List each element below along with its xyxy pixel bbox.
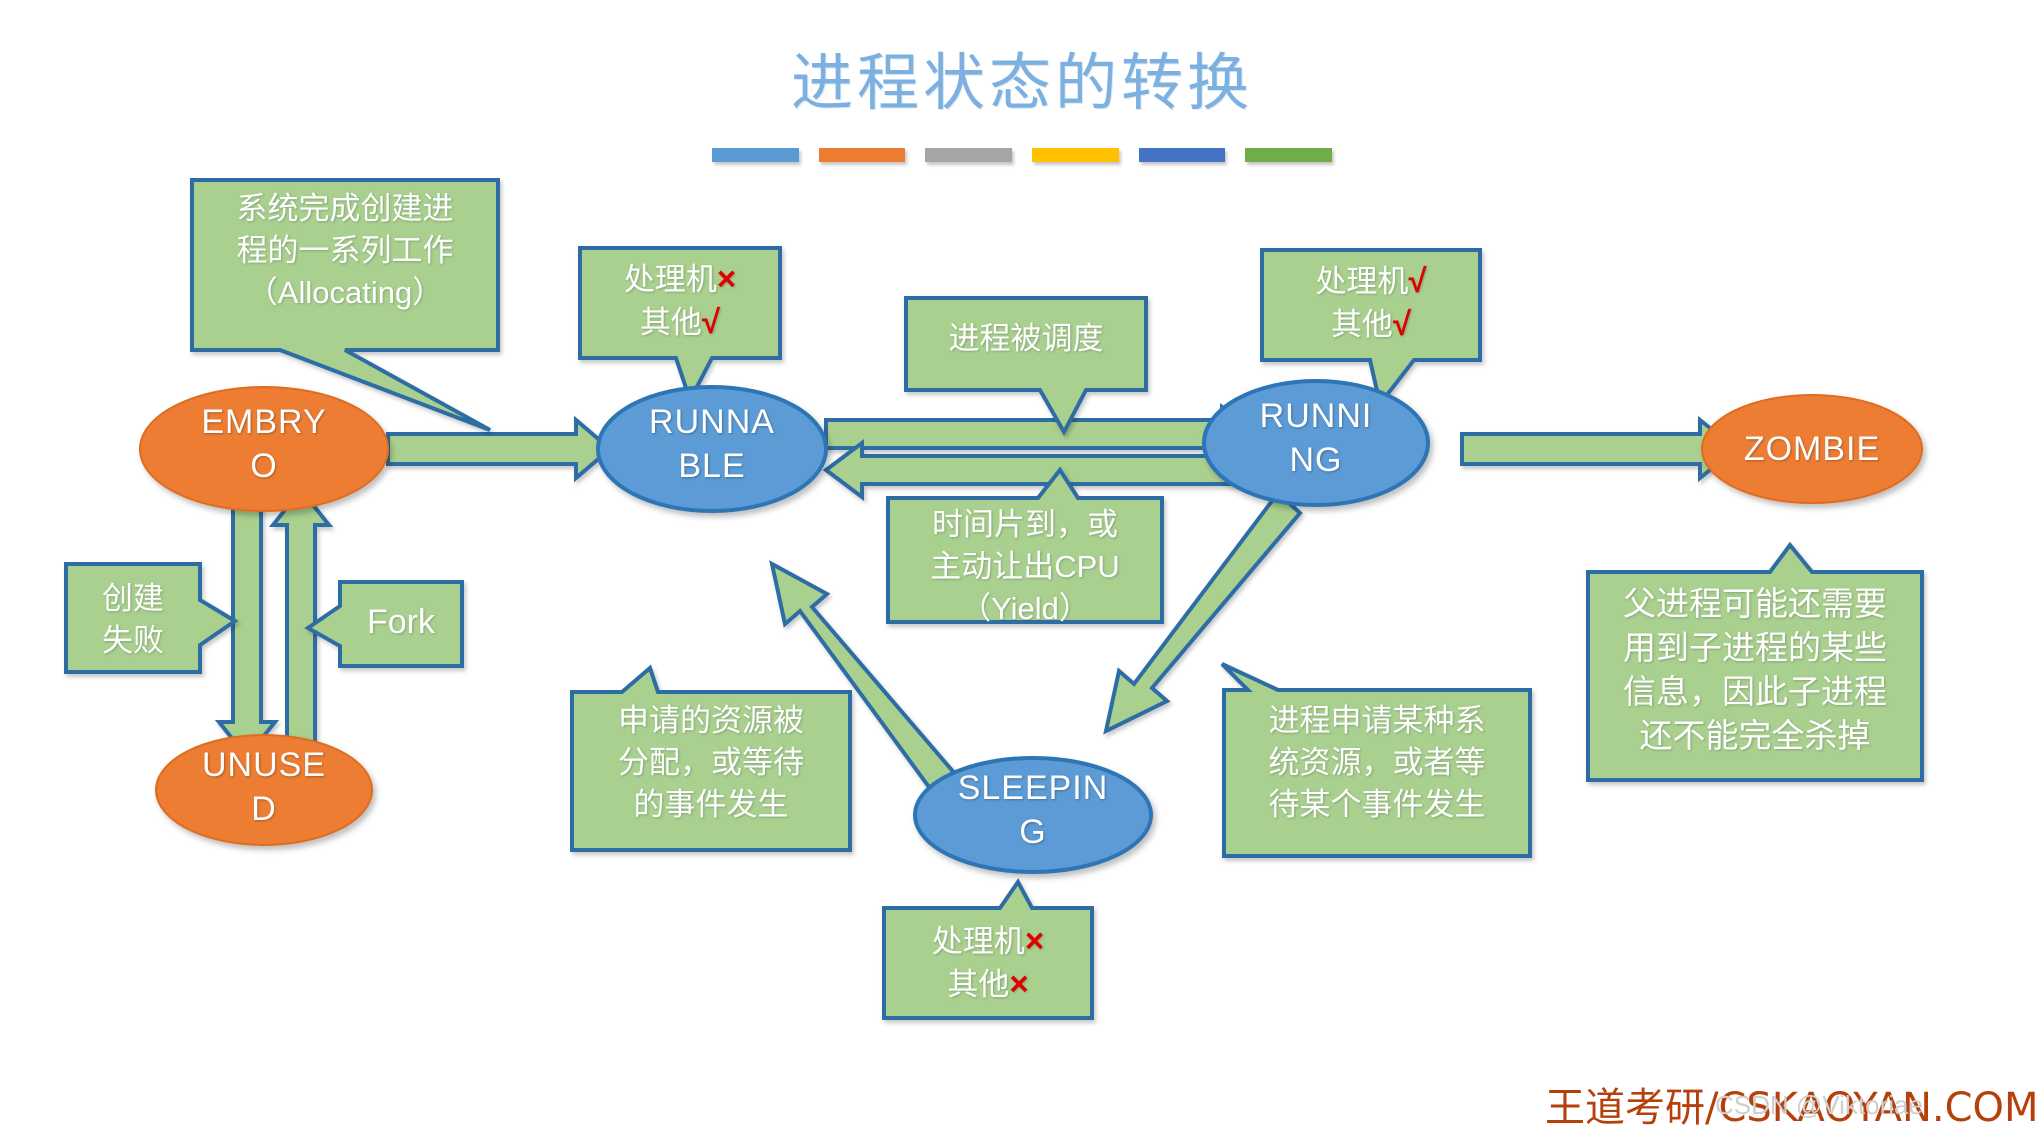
callout-running-status-text1: 处理机√ xyxy=(1315,264,1426,299)
callout-zombie-reason-line1: 父进程可能还需要 xyxy=(1588,582,1922,626)
callout-resource-allocated-text: 申请的资源被 分配，或等待 的事件发生 xyxy=(572,700,850,826)
callout-runnable-status-line2: 其他√ xyxy=(580,301,780,344)
callout-running-status-text2: 其他√ xyxy=(1331,307,1411,342)
state-node-sleeping xyxy=(915,758,1151,872)
callout-allocating-text: 系统完成创建进 程的一系列工作 （Allocating） xyxy=(192,188,498,314)
callout-sleeping-status-line2: 其他× xyxy=(884,963,1092,1006)
callout-request-resource-line1: 进程申请某种系 xyxy=(1224,700,1530,742)
callout-fork-line1: Fork xyxy=(340,601,462,643)
callout-request-resource-line2: 统资源，或者等 xyxy=(1224,742,1530,784)
running-to-runnable-arrow xyxy=(826,443,1258,497)
running-to-zombie-arrow xyxy=(1462,420,1736,478)
callout-resource-allocated-line2: 分配，或等待 xyxy=(572,742,850,784)
callout-allocating-line3: （Allocating） xyxy=(192,272,498,314)
callout-resource-allocated-line3: 的事件发生 xyxy=(572,784,850,826)
state-node-runnable xyxy=(598,387,826,511)
slide-canvas: 进程状态的转换 xyxy=(0,0,2044,1142)
callout-fork-text: Fork xyxy=(340,601,462,643)
callout-zombie-reason-line3: 信息，因此子进程 xyxy=(1588,670,1922,714)
callout-zombie-reason-line4: 还不能完全杀掉 xyxy=(1588,714,1922,758)
callout-sleeping-status-text: 处理机× 其他× xyxy=(884,920,1092,1006)
callout-create-failed-line1: 创建 xyxy=(66,578,200,620)
callout-running-status-line2: 其他√ xyxy=(1262,303,1480,346)
callout-yield-line3: （Yield） xyxy=(888,588,1162,630)
callout-yield-line2: 主动让出CPU xyxy=(888,546,1162,588)
callout-runnable-status-line1: 处理机× xyxy=(580,258,780,301)
callout-sleeping-status-line1: 处理机× xyxy=(884,920,1092,963)
callout-create-failed-text: 创建 失败 xyxy=(66,578,200,662)
state-node-embryo xyxy=(140,387,388,511)
callout-zombie-reason-line2: 用到子进程的某些 xyxy=(1588,626,1922,670)
callout-running-status-text: 处理机√ 其他√ xyxy=(1262,260,1480,346)
callout-runnable-status-text2: 其他√ xyxy=(640,305,720,340)
callout-resource-allocated-line1: 申请的资源被 xyxy=(572,700,850,742)
callout-runnable-status-text: 处理机× 其他√ xyxy=(580,258,780,344)
callout-scheduled-line1: 进程被调度 xyxy=(906,318,1146,360)
callout-allocating-line2: 程的一系列工作 xyxy=(192,230,498,272)
callout-scheduled-text: 进程被调度 xyxy=(906,318,1146,360)
callout-yield-line1: 时间片到，或 xyxy=(888,504,1162,546)
callout-running-status-line1: 处理机√ xyxy=(1262,260,1480,303)
callout-request-resource-text: 进程申请某种系 统资源，或者等 待某个事件发生 xyxy=(1224,700,1530,826)
callout-runnable-status-text1: 处理机× xyxy=(624,262,736,297)
callout-request-resource-line3: 待某个事件发生 xyxy=(1224,784,1530,826)
state-node-running xyxy=(1204,381,1428,505)
embryo-to-runnable-arrow xyxy=(388,420,610,478)
callout-sleeping-status-text1: 处理机× xyxy=(932,924,1044,959)
runnable-to-running-arrow xyxy=(826,407,1258,461)
state-node-zombie xyxy=(1702,395,1922,503)
callout-yield-text: 时间片到，或 主动让出CPU （Yield） xyxy=(888,504,1162,630)
callout-zombie-reason-text: 父进程可能还需要 用到子进程的某些 信息，因此子进程 还不能完全杀掉 xyxy=(1588,582,1922,758)
state-node-unused xyxy=(156,735,372,845)
watermark-csdn: CSDN @Viktoriae xyxy=(1715,1090,1923,1121)
callout-allocating-line1: 系统完成创建进 xyxy=(192,188,498,230)
callout-create-failed-line2: 失败 xyxy=(66,620,200,662)
callout-sleeping-status-text2: 其他× xyxy=(947,967,1028,1002)
